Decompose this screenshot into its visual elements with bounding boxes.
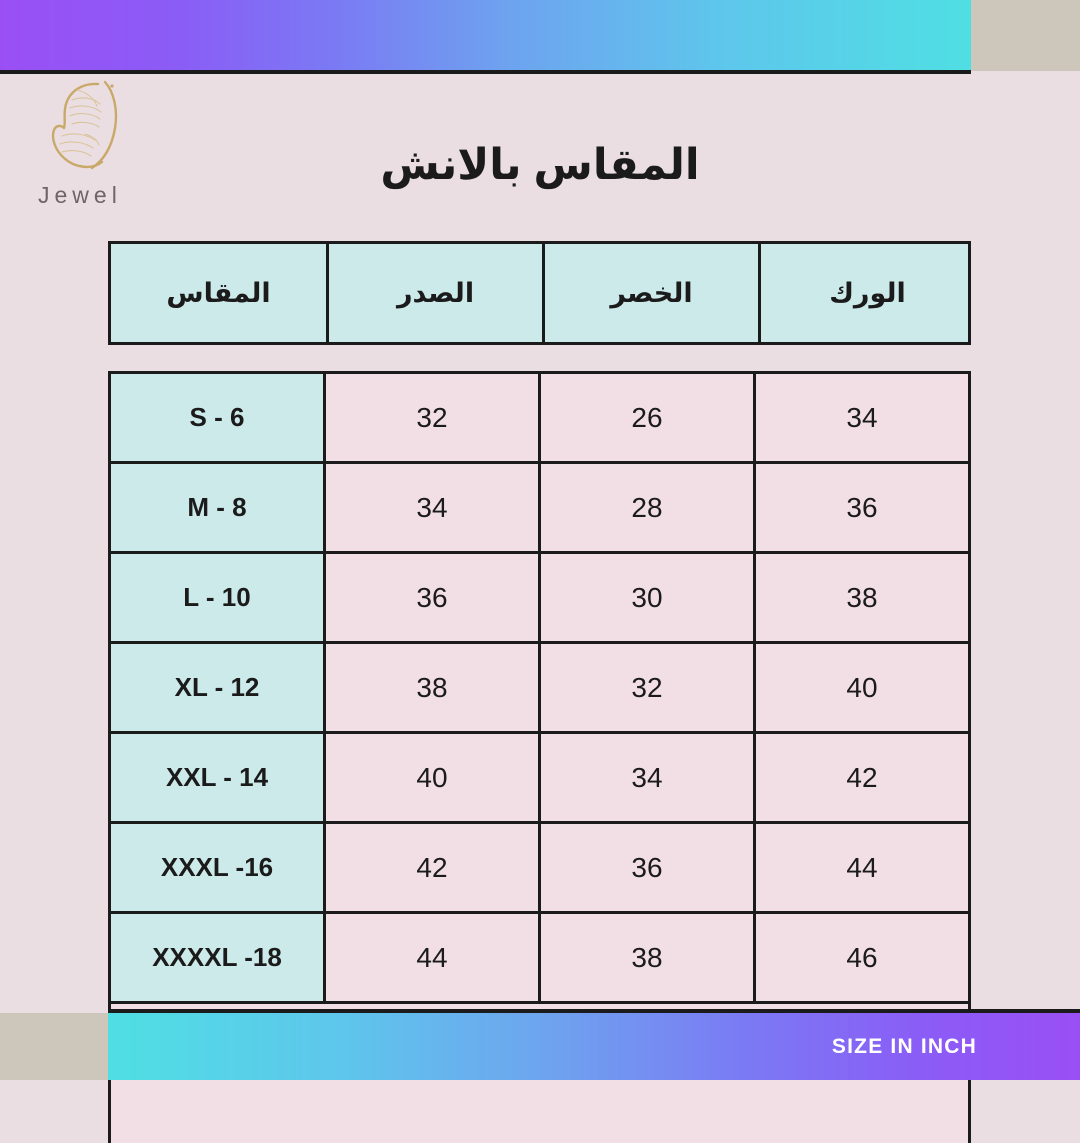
beige-block-top-right <box>971 0 1080 71</box>
cell-chest: 34 <box>323 464 538 551</box>
cell-chest: 36 <box>323 554 538 641</box>
beige-block-bottom-left <box>0 1013 108 1080</box>
cell-hips: 42 <box>753 734 968 821</box>
table-row: XXL - 14 40 34 42 <box>111 734 968 824</box>
cell-size: L - 10 <box>111 554 323 641</box>
page-title: المقاس بالانش <box>0 140 1080 190</box>
cell-waist: 38 <box>538 914 753 1001</box>
table-row: S - 6 32 26 34 <box>111 374 968 464</box>
cell-size: XXXXL -18 <box>111 914 323 1001</box>
column-header-hips: الورك <box>758 244 974 342</box>
table-row: L - 10 36 30 38 <box>111 554 968 644</box>
bottom-gradient-bar: SIZE IN INCH <box>108 1009 1080 1080</box>
cell-chest: 42 <box>323 824 538 911</box>
top-gradient-bar <box>0 0 971 74</box>
column-header-waist: الخصر <box>542 244 758 342</box>
cell-hips: 38 <box>753 554 968 641</box>
cell-hips: 44 <box>753 824 968 911</box>
cell-size: XXXL -16 <box>111 824 323 911</box>
cell-hips: 46 <box>753 914 968 1001</box>
column-header-chest: الصدر <box>326 244 542 342</box>
cell-size: XXL - 14 <box>111 734 323 821</box>
cell-size: M - 8 <box>111 464 323 551</box>
table-row: XXXXL -18 44 38 46 <box>111 914 968 1004</box>
cell-waist: 36 <box>538 824 753 911</box>
size-table: المقاس الصدر الخصر الورك S - 6 32 26 34 … <box>108 241 971 1143</box>
cell-hips: 36 <box>753 464 968 551</box>
cell-waist: 26 <box>538 374 753 461</box>
cell-size: S - 6 <box>111 374 323 461</box>
table-row: XL - 12 38 32 40 <box>111 644 968 734</box>
table-row: XXXL -16 42 36 44 <box>111 824 968 914</box>
cell-chest: 40 <box>323 734 538 821</box>
cell-chest: 32 <box>323 374 538 461</box>
size-chart-page: Jewel المقاس بالانش المقاس الصدر الخصر ا… <box>0 0 1080 1080</box>
cell-waist: 30 <box>538 554 753 641</box>
cell-waist: 34 <box>538 734 753 821</box>
cell-waist: 32 <box>538 644 753 731</box>
cell-chest: 38 <box>323 644 538 731</box>
cell-size: XL - 12 <box>111 644 323 731</box>
table-header-row: المقاس الصدر الخصر الورك <box>108 241 971 345</box>
cell-hips: 40 <box>753 644 968 731</box>
column-header-size: المقاس <box>111 244 326 342</box>
cell-chest: 44 <box>323 914 538 1001</box>
cell-hips: 34 <box>753 374 968 461</box>
size-unit-label: SIZE IN INCH <box>832 1035 977 1059</box>
cell-waist: 28 <box>538 464 753 551</box>
table-row: M - 8 34 28 36 <box>111 464 968 554</box>
